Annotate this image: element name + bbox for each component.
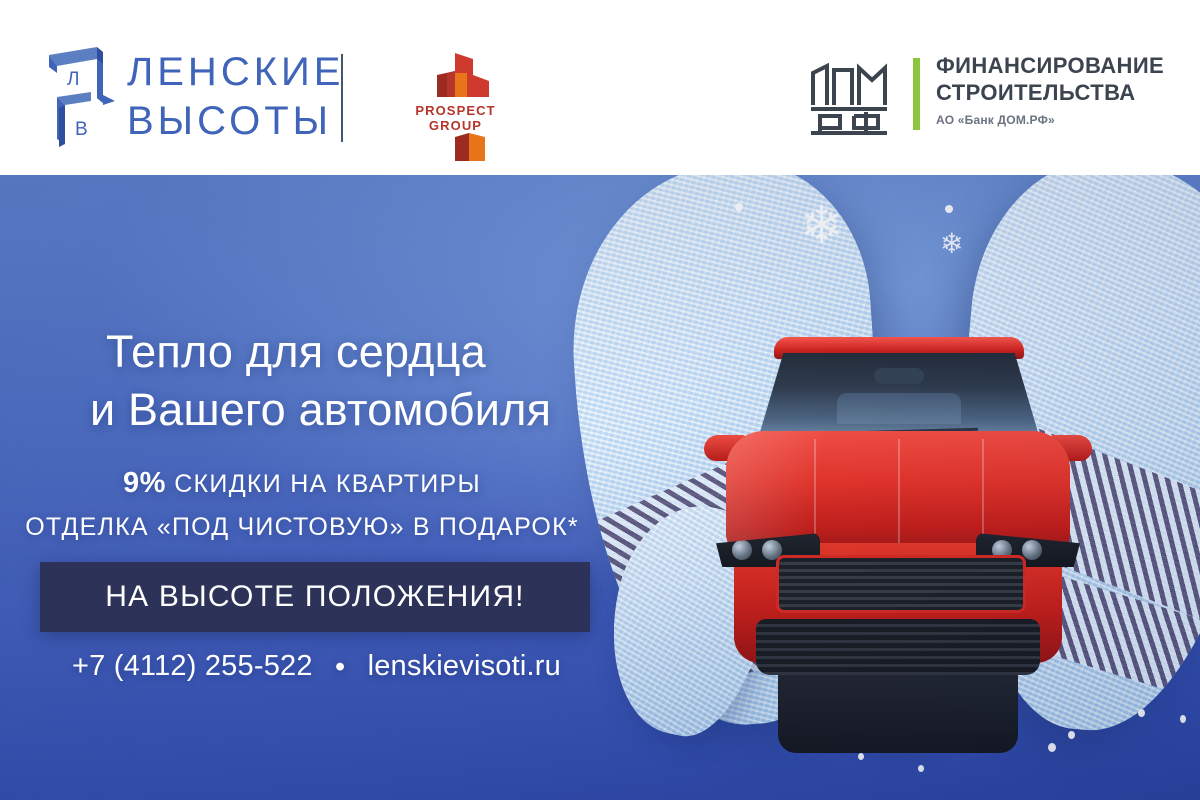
promo-banner: Л В ЛЕНСКИЕ ВЫСОТЫ PROSPECT GROUP [0,0,1200,800]
car-hood [726,431,1070,551]
developer-logo-wordmark: ЛЕНСКИЕ ВЫСОТЫ [127,48,344,146]
bank-logo-title-line2: СТРОИТЕЛЬСТВА [936,79,1164,106]
snow-dot [918,765,924,772]
car-seat [837,393,961,424]
snow-dot [735,203,743,211]
red-car [698,337,1098,737]
partner-logo-line1: PROSPECT [393,103,518,118]
phone-number[interactable]: +7 (4112) 255-522 [72,650,313,682]
headline-line1: Тепло для сердца [106,326,486,377]
bank-logo[interactable]: ФИНАНСИРОВАНИЕ СТРОИТЕЛЬСТВА АО «Банк ДО… [808,52,1148,160]
snow-dot [1138,709,1145,717]
website-link[interactable]: lenskievisoti.ru [368,650,561,682]
offer-line-2: ОТДЕЛКА «ПОД ЧИСТОВУЮ» В ПОДАРОК* [0,513,604,542]
slogan-box: НА ВЫСОТЕ ПОЛОЖЕНИЯ! [40,562,590,632]
header-divider [341,54,343,142]
headline: Тепло для сердца и Вашего автомобиля [106,323,551,439]
discount-label: СКИДКИ НА КВАРТИРЫ [174,470,481,498]
logo-header: Л В ЛЕНСКИЕ ВЫСОТЫ PROSPECT GROUP [0,0,1200,175]
bank-logo-subtitle: АО «Банк ДОМ.РФ» [936,113,1164,127]
dom-rf-mark-icon [808,58,894,136]
slogan-text: НА ВЫСОТЕ ПОЛОЖЕНИЯ! [105,580,524,614]
snowflake-large-icon: ❄ [800,200,844,252]
bank-logo-accent-bar [913,58,920,130]
snow-dot [858,753,864,760]
car-windshield [758,353,1040,439]
bank-logo-text: ФИНАНСИРОВАНИЕ СТРОИТЕЛЬСТВА АО «Банк ДО… [936,52,1164,127]
developer-logo-line1: ЛЕНСКИЕ [127,48,344,97]
offer-line-1: 9% СКИДКИ НА КВАРТИРЫ [0,467,604,500]
svg-text:Л: Л [67,69,79,90]
svg-text:В: В [75,119,88,140]
snow-dot [1180,715,1186,723]
partner-logo-line2: GROUP [393,118,518,133]
car-rear-view-mirror [874,368,925,384]
headline-line2: и Вашего автомобиля [90,381,551,439]
car-shadow [778,673,1018,753]
contacts: +7 (4112) 255-522 • lenskievisoti.ru [72,650,561,684]
lenskie-vysoty-mark-icon: Л В [45,43,117,148]
developer-logo[interactable]: Л В ЛЕНСКИЕ ВЫСОТЫ [45,40,335,150]
snow-dot [1068,731,1075,739]
winter-photo [590,175,1200,800]
partner-logo[interactable]: PROSPECT GROUP [393,45,518,165]
car-grille-lower [756,619,1040,675]
discount-value: 9% [123,467,166,499]
partner-logo-wordmark: PROSPECT GROUP [393,103,518,133]
snow-dot [1048,743,1056,752]
developer-logo-line2: ВЫСОТЫ [127,97,344,146]
snowflake-small-icon: ❄ [940,230,963,258]
contacts-separator: • [335,651,345,684]
promo-stage: ❄ ❄ Тепло для сердца и Вашего автомобиля… [0,175,1200,800]
promo-copy: Тепло для сердца и Вашего автомобиля 9% … [0,175,640,800]
car-grille-upper [776,555,1026,613]
snow-dot [945,205,953,213]
bank-logo-title-line1: ФИНАНСИРОВАНИЕ [936,52,1164,79]
